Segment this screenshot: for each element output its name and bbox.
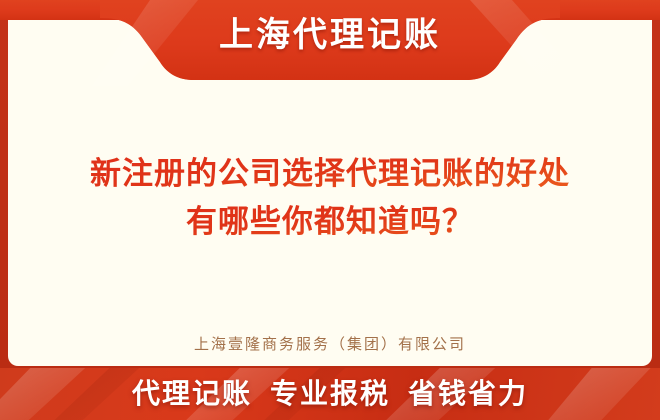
bottom-banner-text: 代理记账专业报税省钱省力 bbox=[0, 368, 660, 420]
poster-root: 上海代理记账 新注册的公司选择代理记账的好处 有哪些你都知道吗？ 上海壹隆商务服… bbox=[0, 0, 660, 420]
headline-line-2: 有哪些你都知道吗？ bbox=[8, 198, 652, 246]
slogan-2: 专业报税 bbox=[270, 368, 390, 420]
company-name: 上海壹隆商务服务（集团）有限公司 bbox=[8, 334, 652, 356]
bottom-banner: 代理记账专业报税省钱省力 bbox=[0, 368, 660, 420]
slogan-3: 省钱省力 bbox=[408, 368, 528, 420]
headline-line-1: 新注册的公司选择代理记账的好处 bbox=[8, 150, 652, 198]
headline: 新注册的公司选择代理记账的好处 有哪些你都知道吗？ bbox=[8, 150, 652, 246]
slogan-1: 代理记账 bbox=[132, 368, 252, 420]
